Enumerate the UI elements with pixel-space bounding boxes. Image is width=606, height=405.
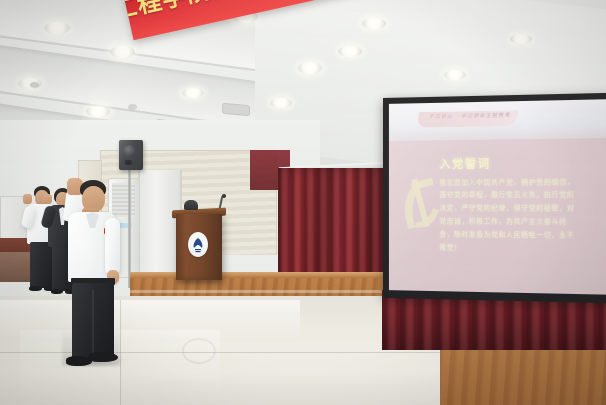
- speaker-tweeter-icon: [125, 160, 132, 165]
- raised-fist: [43, 194, 52, 204]
- person-floor-reflection: [62, 326, 120, 366]
- shoe: [29, 286, 42, 291]
- speaking-podium: [176, 214, 222, 280]
- downlight-icon: [182, 88, 204, 98]
- podium-shadow: [178, 278, 220, 283]
- speaker-cone-icon: [123, 145, 135, 157]
- smoke-detector-icon: [128, 104, 137, 109]
- ac-grille: [112, 183, 135, 217]
- projected-slide: 不忘初心 · 牢记使命主题教育 入党誓词 我志愿加入中国共产党，拥护党的纲领，遵…: [389, 99, 606, 294]
- downlight-icon: [444, 70, 466, 80]
- smoke-detector-icon: [30, 82, 39, 87]
- downlight-icon: [338, 46, 362, 57]
- projection-screen: 不忘初心 · 牢记使命主题教育 入党誓词 我志愿加入中国共产党，拥护党的纲领，遵…: [383, 93, 606, 303]
- slide-title: 入党誓词: [439, 155, 490, 172]
- shoe: [51, 289, 63, 294]
- ceiling-vent: [222, 103, 250, 116]
- downlight-icon: [298, 62, 322, 74]
- floor-tile-seam: [120, 300, 121, 405]
- downlight-icon: [362, 18, 386, 29]
- loudspeaker: [119, 140, 143, 170]
- microphone-head: [222, 194, 226, 198]
- conference-hall-photo: 不忘初心 · 牢记使命主题教育 入党誓词 我志愿加入中国共产党，拥护党的纲领，遵…: [0, 0, 606, 405]
- downlight-icon: [86, 106, 110, 117]
- raised-fist: [23, 194, 32, 204]
- speaker-pole: [128, 168, 131, 288]
- downlight-icon: [270, 98, 292, 108]
- downlight-icon: [44, 22, 70, 34]
- downlight-icon: [510, 34, 532, 44]
- slide-oath-text: 我志愿加入中国共产党，拥护党的纲领，遵守党的章程，履行党员义务，执行党的决定，严…: [439, 176, 575, 256]
- legs: [30, 242, 54, 288]
- arm: [105, 218, 120, 274]
- floor-emblem: [182, 338, 216, 364]
- downlight-icon: [110, 46, 135, 58]
- podium-microphone: [184, 200, 198, 210]
- university-crest-icon: [188, 232, 208, 257]
